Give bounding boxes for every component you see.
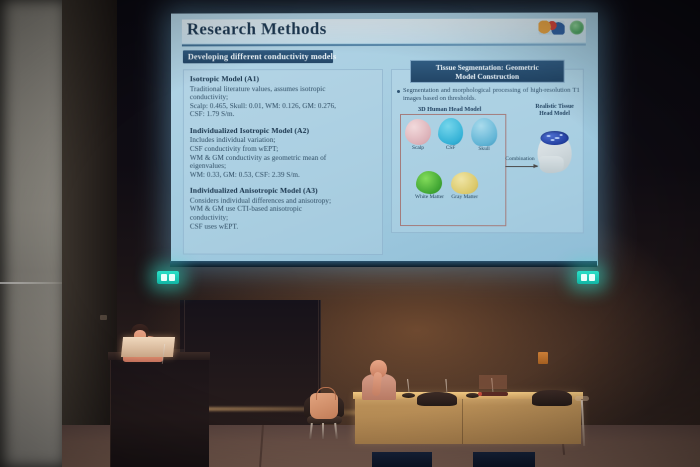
table-shadow-box <box>372 452 432 467</box>
combination-arrow-icon <box>505 166 537 167</box>
bag-handle <box>316 387 336 400</box>
model-line: Scalp: 0.465, Skull: 0.01, WM: 0.126, GM… <box>190 102 376 111</box>
tissue-label: White Matter <box>415 194 444 200</box>
model-heading: Individualized Isotropic Model (A2) <box>190 126 376 135</box>
table-shadow-box <box>473 452 535 467</box>
tissue-segmentation-panel: Tissue Segmentation: Geometric Model Con… <box>391 69 584 234</box>
combination-arrow-label: Combination <box>505 156 534 162</box>
microphone-base <box>402 393 415 398</box>
tissue-label: Scalp <box>412 145 424 151</box>
model-line: WM & GM use CTI-based anisotropic <box>190 205 376 214</box>
tissue-shapes-box: Scalp CSF Skull White Matter <box>400 114 506 226</box>
tissue-label: Skull <box>478 146 489 152</box>
output-model-caption: Realistic Tissue Head Model <box>528 104 580 118</box>
model-line: CSF uses wEPT. <box>190 222 376 231</box>
tissue-gray-matter: Gray Matter <box>451 172 478 200</box>
model-block-a2: Individualized Isotropic Model (A2) Incl… <box>190 126 376 179</box>
table-item <box>478 392 482 396</box>
floor-mic-head <box>575 396 589 401</box>
output-caption-line1: Realistic Tissue <box>528 104 580 111</box>
table-placard <box>479 375 507 389</box>
logo-group <box>538 20 583 34</box>
model-line: Considers individual differences and ani… <box>190 197 376 206</box>
conductivity-models-column: Isotropic Model (A1) Traditional literat… <box>183 69 383 255</box>
slide-title: Research Methods <box>182 18 586 43</box>
bullet-dot-icon <box>397 90 400 93</box>
model-line: Includes individual variation; <box>190 136 376 145</box>
table-item <box>480 392 508 396</box>
tissue-skull: Skull <box>471 118 497 152</box>
tissue-white-matter: White Matter <box>415 171 444 200</box>
tissue-label: CSF <box>446 145 456 151</box>
exit-sign-left <box>157 271 179 284</box>
colorful-institution-logo-icon <box>538 21 564 35</box>
panel-bullet: Segmentation and morphological processin… <box>397 87 580 103</box>
model-heading: Isotropic Model (A1) <box>190 74 376 83</box>
model-line: conductivity; <box>190 214 376 223</box>
model-line: CSF conductivity from wEPT; <box>190 145 376 154</box>
model-line: Traditional literature values, assumes i… <box>190 85 376 94</box>
output-caption-line2: Head Model <box>528 111 580 118</box>
head-jaw <box>539 156 563 173</box>
tissue-scalp: Scalp <box>405 119 431 151</box>
model-block-a1: Isotropic Model (A1) Traditional literat… <box>190 74 376 119</box>
panel-title-banner: Tissue Segmentation: Geometric Model Con… <box>410 60 565 83</box>
tissue-label: Gray Matter <box>451 194 478 200</box>
table-panel-divider <box>462 399 463 444</box>
title-divider <box>182 44 586 47</box>
tissue-csf: CSF <box>438 118 463 151</box>
exit-sign-right <box>577 271 599 284</box>
left-wall-shadow <box>62 0 117 467</box>
brain-surface <box>540 131 568 145</box>
projection-screen: Research Methods Developing different co… <box>171 12 598 265</box>
wall-sign <box>538 352 548 364</box>
screen-bottom-frame <box>170 261 597 267</box>
green-circular-logo-icon <box>570 20 584 34</box>
diagram-caption: 3D Human Head Model <box>418 106 481 113</box>
presentation-slide: Research Methods Developing different co… <box>171 12 598 265</box>
wall-fixture <box>100 315 107 320</box>
panel-title-line1: Tissue Segmentation: Geometric <box>436 62 539 71</box>
chair-behind-table <box>417 392 455 402</box>
subtitle-banner: Developing different conductivity models <box>183 50 333 63</box>
model-line: CSF: 1.79 S/m. <box>190 110 376 119</box>
presentation-photo: Research Methods Developing different co… <box>0 0 700 467</box>
subtitle-banner-label: Developing different conductivity models <box>183 52 336 61</box>
model-line: WM: 0.33, GM: 0.53, CSF: 2.39 S/m. <box>190 171 376 180</box>
model-line: WM & GM conductivity as geometric mean o… <box>190 154 376 163</box>
chair-behind-table <box>532 390 570 402</box>
presenter-laptop <box>121 337 175 357</box>
panel-bullet-text: Segmentation and morphological processin… <box>403 87 580 103</box>
left-wall-pillar <box>0 0 62 467</box>
model-line: conductivity; <box>190 93 376 102</box>
model-line: eigenvalues; <box>190 162 376 171</box>
model-block-a3: Individualized Anisotropic Model (A3) Co… <box>190 186 376 231</box>
panel-title-line2: Model Construction <box>455 71 519 80</box>
realistic-head-model-figure <box>535 126 573 174</box>
lectern <box>110 358 209 467</box>
model-heading: Individualized Anisotropic Model (A3) <box>190 186 376 195</box>
